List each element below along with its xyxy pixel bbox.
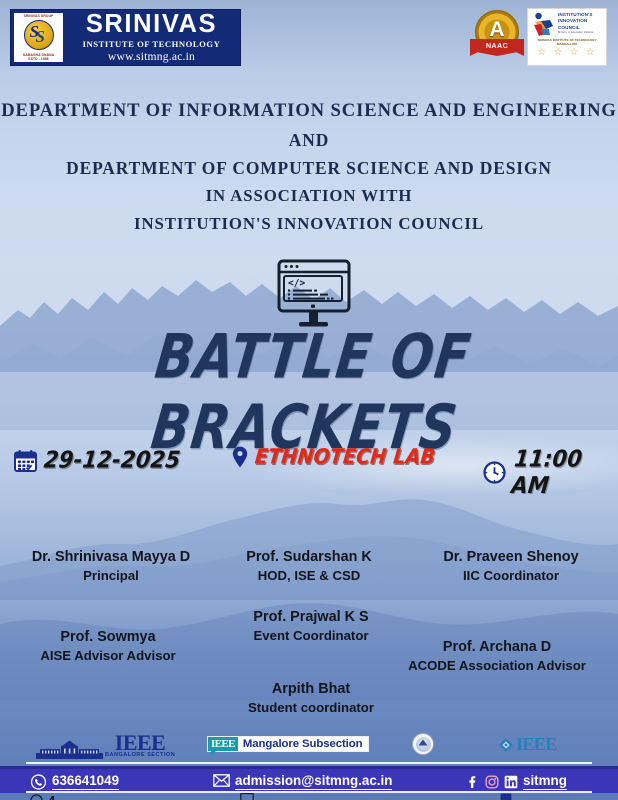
contact-social-handle: sitmng: [523, 773, 567, 790]
organizer-role: Event Coordinator: [236, 627, 386, 645]
event-date-item: 29-12-2025: [14, 448, 180, 472]
naac-badge: NAAC: [470, 10, 524, 62]
facebook-icon[interactable]: [466, 775, 480, 789]
location-pin-icon: [232, 446, 248, 468]
event-time-text: 11:00 AM: [510, 446, 618, 499]
naac-ribbon: NAAC: [470, 39, 524, 56]
event-time-item: 11:00 AM: [483, 448, 618, 496]
event-details-row: 29-12-2025 ETHNOTECH LAB: [0, 440, 618, 492]
footer-logo-strip: IEEE BANGALORE SECTION IEEE Mangalore Su…: [0, 728, 618, 764]
iic-star-rating: ☆ ☆ ☆ ☆: [532, 48, 602, 58]
crest-seal-icon: [24, 20, 54, 50]
iic-badge: INSTITUTION'S INNOVATION COUNCIL Ministr…: [527, 8, 607, 66]
organizer-role: Principal: [6, 567, 216, 585]
event-date-text: 29-12-2025: [43, 447, 182, 473]
instagram-icon[interactable]: [485, 775, 499, 789]
clock-icon: [483, 461, 506, 484]
organizer-entry: Prof. Prajwal K S Event Coordinator: [236, 608, 386, 645]
ieee-mangalore-tag: IEEE: [208, 737, 238, 751]
institute-logo: SRINIVAS GROUP SAMAGRA GNANAESTD - 1988 …: [10, 9, 241, 66]
department-line-3: DEPARTMENT OF COMPUTER SCIENCE AND DESIG…: [0, 154, 618, 182]
contact-social[interactable]: sitmng: [466, 773, 567, 790]
envelope-icon: [213, 774, 230, 789]
organizer-name: Prof. Archana D: [382, 638, 612, 657]
institute-website: www.sitmng.ac.in: [108, 50, 195, 63]
calendar-icon: [14, 449, 37, 472]
clipped-contact-row: 4: [0, 793, 618, 800]
ieee-bangalore-sub: BANGALORE SECTION: [105, 753, 175, 759]
organizer-role: HOD, ISE & CSD: [218, 567, 400, 585]
event-poster: SRINIVAS GROUP SAMAGRA GNANAESTD - 1988 …: [0, 0, 618, 800]
crest-bottom-text: SAMAGRA GNANAESTD - 1988: [23, 53, 54, 61]
contact-row: 636641049 admission@sitmng.ac.in: [0, 772, 618, 793]
department-header: DEPARTMENT OF INFORMATION SCIENCE AND EN…: [0, 96, 618, 237]
ieee-mangalore-subsection-logo: IEEE Mangalore Subsection: [207, 736, 369, 752]
ieee-bangalore-main: IEEE: [115, 732, 166, 754]
contact-phone-text: 636641049: [52, 773, 119, 790]
ieee-bangalore-section-logo: IEEE BANGALORE SECTION: [36, 732, 175, 759]
vidhana-soudha-icon: [36, 740, 103, 759]
organizer-role: AISE Advisor Advisor: [10, 647, 206, 665]
organizer-name: Prof. Sudarshan K: [218, 548, 400, 567]
organizer-entry: Prof. Sowmya AISE Advisor Advisor: [10, 628, 206, 665]
ieee-mangalore-label: Mangalore Subsection: [238, 737, 369, 751]
svg-text:</>: </>: [288, 278, 305, 289]
event-venue-item: ETHNOTECH LAB: [232, 446, 435, 468]
ieee-diamond-icon: [498, 737, 514, 753]
organizer-role: ACODE Association Advisor: [382, 657, 612, 675]
poster-header: SRINIVAS GROUP SAMAGRA GNANAESTD - 1988 …: [0, 0, 618, 84]
institute-subtitle: INSTITUTE OF TECHNOLOGY: [83, 39, 221, 49]
organizer-name: Dr. Shrinivasa Mayya D: [6, 548, 216, 567]
naac-label: NAAC: [486, 41, 508, 50]
linkedin-icon[interactable]: [504, 775, 518, 789]
institute-name: SRINIVAS: [86, 12, 217, 38]
iic-badge-top: INSTITUTION'S INNOVATION COUNCIL Ministr…: [532, 12, 602, 37]
organizer-entry: Prof. Archana D ACODE Association Adviso…: [382, 638, 612, 675]
whatsapp-icon: [30, 774, 47, 789]
iic-text-block: INSTITUTION'S INNOVATION COUNCIL Ministr…: [558, 12, 594, 34]
organizer-role: IIC Coordinator: [410, 567, 612, 585]
organizer-name: Arpith Bhat: [196, 680, 426, 699]
ieee-bangalore-text: IEEE BANGALORE SECTION: [105, 732, 175, 759]
clipped-phone-item: 4: [30, 793, 55, 800]
event-venue-text: ETHNOTECH LAB: [254, 445, 437, 469]
footer-divider-top: [26, 762, 592, 764]
department-line-5: INSTITUTION'S INNOVATION COUNCIL: [0, 210, 618, 237]
crest-top-text: SRINIVAS GROUP: [24, 14, 54, 18]
sit-seal-icon: [412, 733, 434, 755]
department-line-1: DEPARTMENT OF INFORMATION SCIENCE AND EN…: [0, 96, 618, 126]
organizer-name: Prof. Sowmya: [10, 628, 206, 647]
department-line-2: AND: [0, 126, 618, 154]
organizer-name: Prof. Prajwal K S: [236, 608, 386, 627]
ieee-logo-text: IEEE: [516, 734, 557, 755]
sit-seal-inner: [416, 737, 431, 752]
organizer-name: Dr. Praveen Shenoy: [410, 548, 612, 567]
clipped-mail-item: [240, 793, 254, 800]
iic-logo-icon: [532, 12, 555, 37]
organizer-entry: Dr. Shrinivasa Mayya D Principal: [6, 548, 216, 585]
organizer-entry: Prof. Sudarshan K HOD, ISE & CSD: [218, 548, 400, 585]
department-line-4: IN ASSOCIATION WITH: [0, 182, 618, 209]
iic-tagline: Ministry of Education Initiative: [558, 31, 594, 35]
iic-institute-name: SRINIVAS INSTITUTE OF TECHNOLOGYMANGALUR…: [532, 38, 602, 47]
clipped-phone-text: 4: [48, 793, 55, 800]
institute-logo-text: SRINIVAS INSTITUTE OF TECHNOLOGY www.sit…: [66, 10, 240, 65]
organizer-entry: Arpith Bhat Student coordinator: [196, 680, 426, 717]
ieee-logo: IEEE: [498, 734, 557, 755]
organizer-role: Student coordinator: [196, 699, 426, 717]
contact-email-text: admission@sitmng.ac.in: [235, 773, 392, 790]
clipped-social-item: [500, 793, 512, 800]
institute-crest-icon: SRINIVAS GROUP SAMAGRA GNANAESTD - 1988: [14, 13, 63, 62]
organizer-entry: Dr. Praveen Shenoy IIC Coordinator: [410, 548, 612, 585]
contact-email[interactable]: admission@sitmng.ac.in: [213, 773, 392, 790]
contact-phone[interactable]: 636641049: [30, 773, 119, 790]
contact-bar: 636641049 admission@sitmng.ac.in: [0, 766, 618, 793]
